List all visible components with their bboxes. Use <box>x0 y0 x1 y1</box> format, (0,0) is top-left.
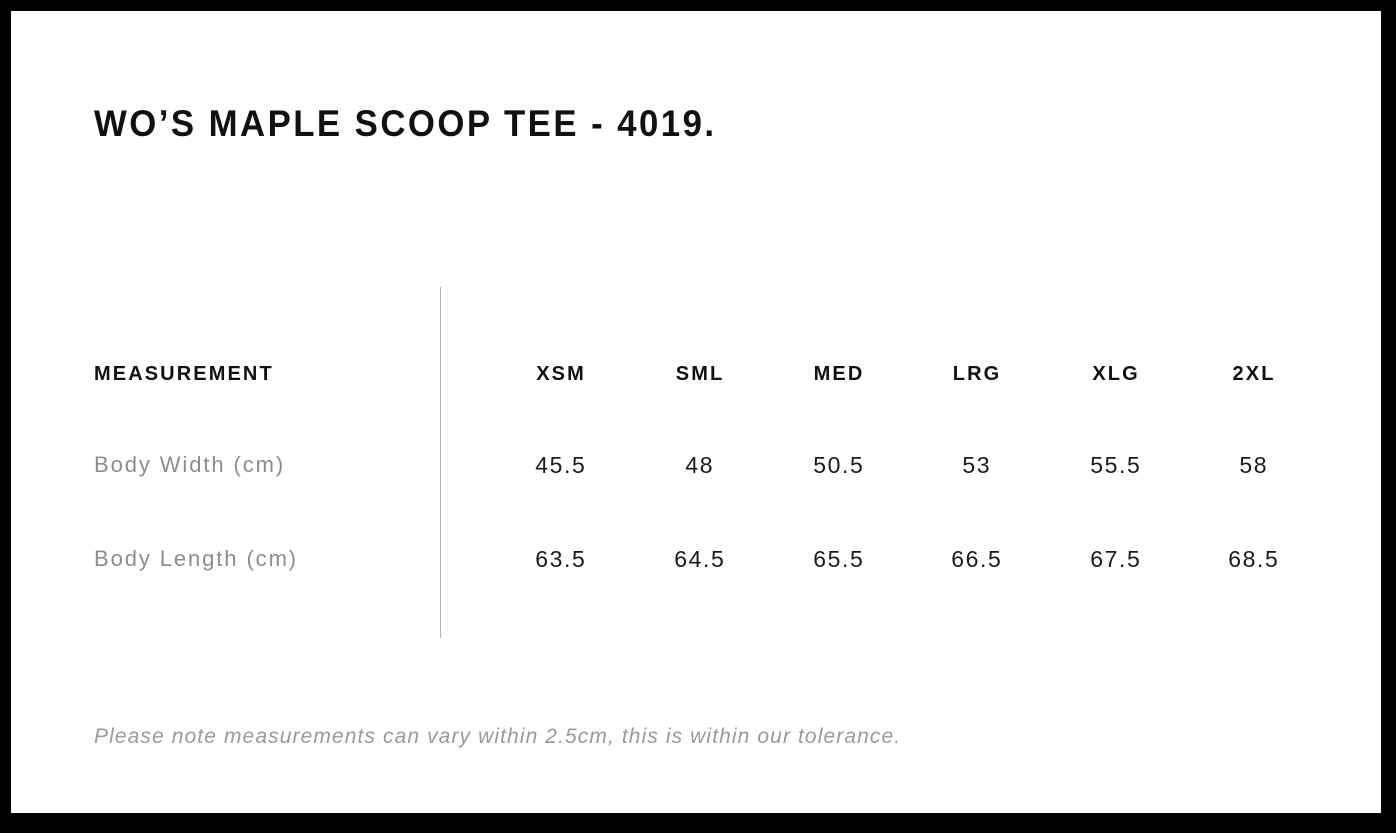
cell-body-width-2xl: 58 <box>1188 445 1318 485</box>
column-header-sml: SML <box>634 354 764 394</box>
cell-body-length-lrg: 66.5 <box>911 539 1041 579</box>
size-chart-table: MEASUREMENT XSM SML MED LRG XLG 2XL Body… <box>11 11 1381 813</box>
row-label-body-length: Body Length (cm) <box>94 539 298 579</box>
cell-body-width-xsm: 45.5 <box>495 445 625 485</box>
cell-body-length-xsm: 63.5 <box>495 539 625 579</box>
cell-body-width-xlg: 55.5 <box>1050 445 1180 485</box>
table-row: Body Width (cm) 45.5 48 50.5 53 55.5 58 <box>11 445 1381 485</box>
cell-body-width-lrg: 53 <box>911 445 1041 485</box>
cell-body-length-sml: 64.5 <box>634 539 764 579</box>
column-header-lrg: LRG <box>911 354 1041 394</box>
table-row: Body Length (cm) 63.5 64.5 65.5 66.5 67.… <box>11 539 1381 579</box>
cell-body-length-2xl: 68.5 <box>1188 539 1318 579</box>
size-chart-sheet: WO’S MAPLE SCOOP TEE - 4019. MEASUREMENT… <box>11 11 1381 813</box>
column-header-xlg: XLG <box>1050 354 1180 394</box>
column-header-measurement: MEASUREMENT <box>94 354 274 394</box>
cell-body-width-med: 50.5 <box>773 445 903 485</box>
tolerance-note: Please note measurements can vary within… <box>94 726 901 747</box>
cell-body-width-sml: 48 <box>634 445 764 485</box>
column-header-2xl: 2XL <box>1188 354 1318 394</box>
table-header-row: MEASUREMENT XSM SML MED LRG XLG 2XL <box>11 354 1381 394</box>
column-header-xsm: XSM <box>495 354 625 394</box>
column-header-med: MED <box>773 354 903 394</box>
row-label-body-width: Body Width (cm) <box>94 445 285 485</box>
cell-body-length-xlg: 67.5 <box>1050 539 1180 579</box>
cell-body-length-med: 65.5 <box>773 539 903 579</box>
page-frame: WO’S MAPLE SCOOP TEE - 4019. MEASUREMENT… <box>0 0 1396 833</box>
